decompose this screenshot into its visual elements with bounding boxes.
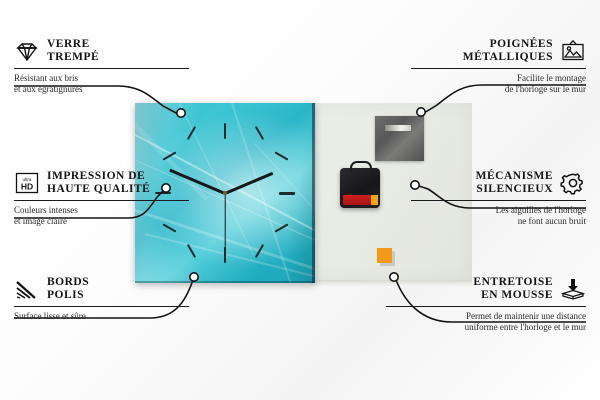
feature-divider (14, 306, 189, 307)
gear-icon (560, 171, 586, 195)
glass-edge-right (312, 103, 315, 283)
feature-desc-line1: Couleurs intenses (14, 205, 78, 215)
feature-desc-line1: Résistant aux bris (14, 73, 78, 83)
clock-tick-12 (224, 123, 226, 139)
feature-desc-line2: ne font aucun bruit (518, 216, 586, 226)
diamond-icon (14, 39, 40, 63)
feature-mecanisme-silencieux: MÉCANISME SILENCIEUX Les aiguilles de l'… (411, 170, 586, 227)
feature-title-line2: HAUTE QUALITÉ (47, 183, 150, 195)
feature-title-line2: EN MOUSSE (481, 289, 553, 301)
feature-poignees-metalliques: POIGNÉES MÉTALLIQUES Facilite le montage… (411, 38, 586, 95)
feature-divider (14, 200, 189, 201)
svg-text:HD: HD (21, 182, 33, 192)
feature-divider (14, 68, 189, 69)
feature-entretoise-en-mousse: ENTRETOISE EN MOUSSE Permet de maintenir… (386, 276, 586, 333)
foam-spacer-icon (560, 277, 586, 301)
clock-mechanism (340, 168, 380, 208)
feature-desc-line2: de l'horloge sur le mur (505, 84, 586, 94)
picture-hanger-icon (560, 39, 586, 63)
feature-verre-trempe: VERRE TREMPÉ Résistant aux bris et aux é… (14, 38, 189, 95)
feature-title-line2: SILENCIEUX (476, 183, 553, 195)
mechanism-shaft (350, 161, 372, 172)
feature-bords-polis: BORDS POLIS Surface lisse et sûre (14, 276, 189, 322)
feature-desc-line1: Permet de maintenir une distance (466, 311, 586, 321)
metal-hanger-plate (375, 116, 424, 161)
battery (343, 195, 377, 205)
hanger-slot (385, 125, 411, 131)
feature-impression-haute-qualite: ultra HD IMPRESSION DE HAUTE QUALITÉ Cou… (14, 170, 189, 227)
clock-second-hand (224, 193, 225, 251)
feature-title-line1: BORDS (47, 276, 89, 288)
feature-divider (411, 200, 586, 201)
feature-title-line1: POIGNÉES (490, 38, 553, 50)
foam-spacer (377, 248, 392, 263)
feature-desc-line2: et aux égratignures (14, 84, 82, 94)
polished-edges-icon (14, 277, 40, 301)
clock-tick-3 (279, 192, 295, 195)
feature-desc-line2: uniforme entre l'horloge et le mur (465, 322, 586, 332)
ultra-hd-icon: ultra HD (14, 171, 40, 195)
feature-desc-line1: Facilite le montage (517, 73, 586, 83)
feature-title-line2: POLIS (47, 289, 84, 301)
feature-title-line2: MÉTALLIQUES (463, 51, 553, 63)
feature-desc-line1: Surface lisse et sûre (14, 311, 86, 321)
clock-center-pin (223, 191, 227, 195)
feature-title-line1: VERRE (47, 38, 90, 50)
feature-title-line1: MÉCANISME (476, 170, 553, 182)
feature-desc-line1: Les aiguilles de l'horloge (496, 205, 586, 215)
feature-divider (411, 68, 586, 69)
feature-divider (386, 306, 586, 307)
feature-desc-line2: et image claire (14, 216, 67, 226)
feature-title-line1: IMPRESSION DE (47, 170, 145, 182)
feature-title-line1: ENTRETOISE (473, 276, 553, 288)
infographic-canvas: VERRE TREMPÉ Résistant aux bris et aux é… (0, 0, 600, 400)
feature-title-line2: TREMPÉ (47, 51, 99, 63)
